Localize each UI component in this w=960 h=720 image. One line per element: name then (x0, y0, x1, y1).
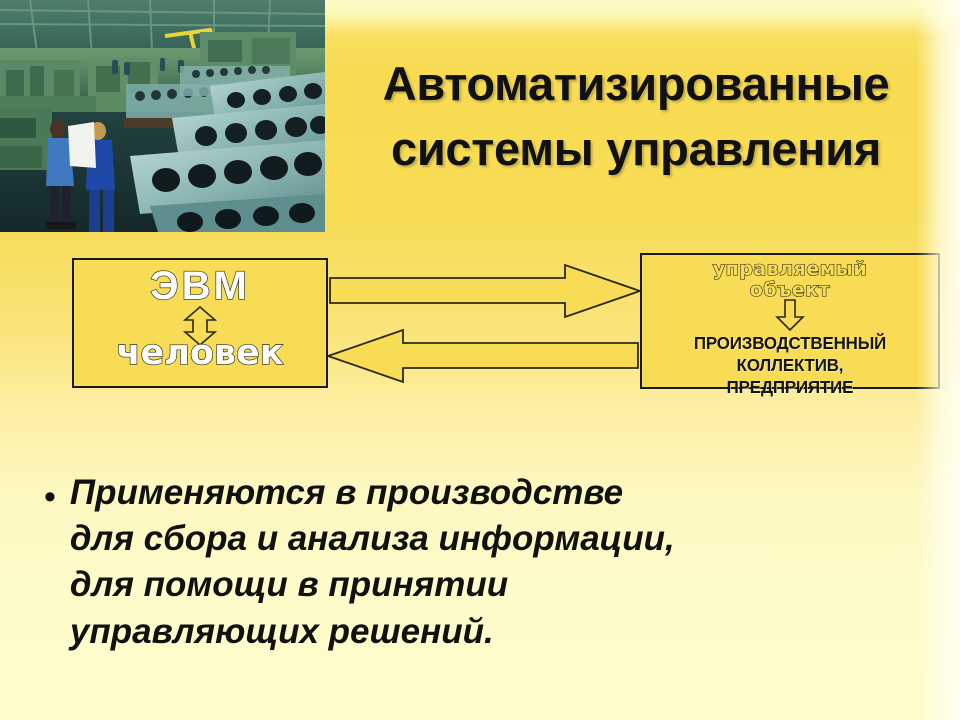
factory-photo-image (0, 0, 325, 232)
production-collective-label: ПРОИЗВОДСТВЕННЫЙ КОЛЛЕКТИВ, ПРЕДПРИЯТИЕ (646, 333, 933, 399)
arrow-right-connector (330, 265, 640, 317)
production-collective-line2: ПРЕДПРИЯТИЕ (646, 377, 933, 399)
diagram-box-computer-human: ЭВМ человек (72, 258, 328, 388)
bullet-list-item: • Применяются в производстве для сбора и… (44, 470, 684, 655)
evm-label: ЭВМ (74, 264, 326, 309)
managed-object-label: управляемый объект (642, 259, 938, 302)
slide-title: Автоматизированные системы управления (318, 52, 954, 182)
slide: Автоматизированные системы управления ЭВ… (0, 0, 960, 720)
bullet-body-text: Применяются в производстве для сбора и а… (70, 470, 684, 655)
production-collective-line1: ПРОИЗВОДСТВЕННЫЙ КОЛЛЕКТИВ, (646, 333, 933, 377)
chelovek-label: человек (74, 333, 326, 373)
diagram-box-managed-object: управляемый объект ПРОИЗВОДСТВЕННЫЙ КОЛЛ… (640, 253, 940, 389)
bullet-marker: • (44, 480, 56, 514)
down-arrow-icon (642, 299, 938, 331)
arrow-left-connector (328, 330, 638, 382)
factory-photo (0, 0, 325, 232)
managed-object-line1: управляемый (642, 259, 938, 280)
